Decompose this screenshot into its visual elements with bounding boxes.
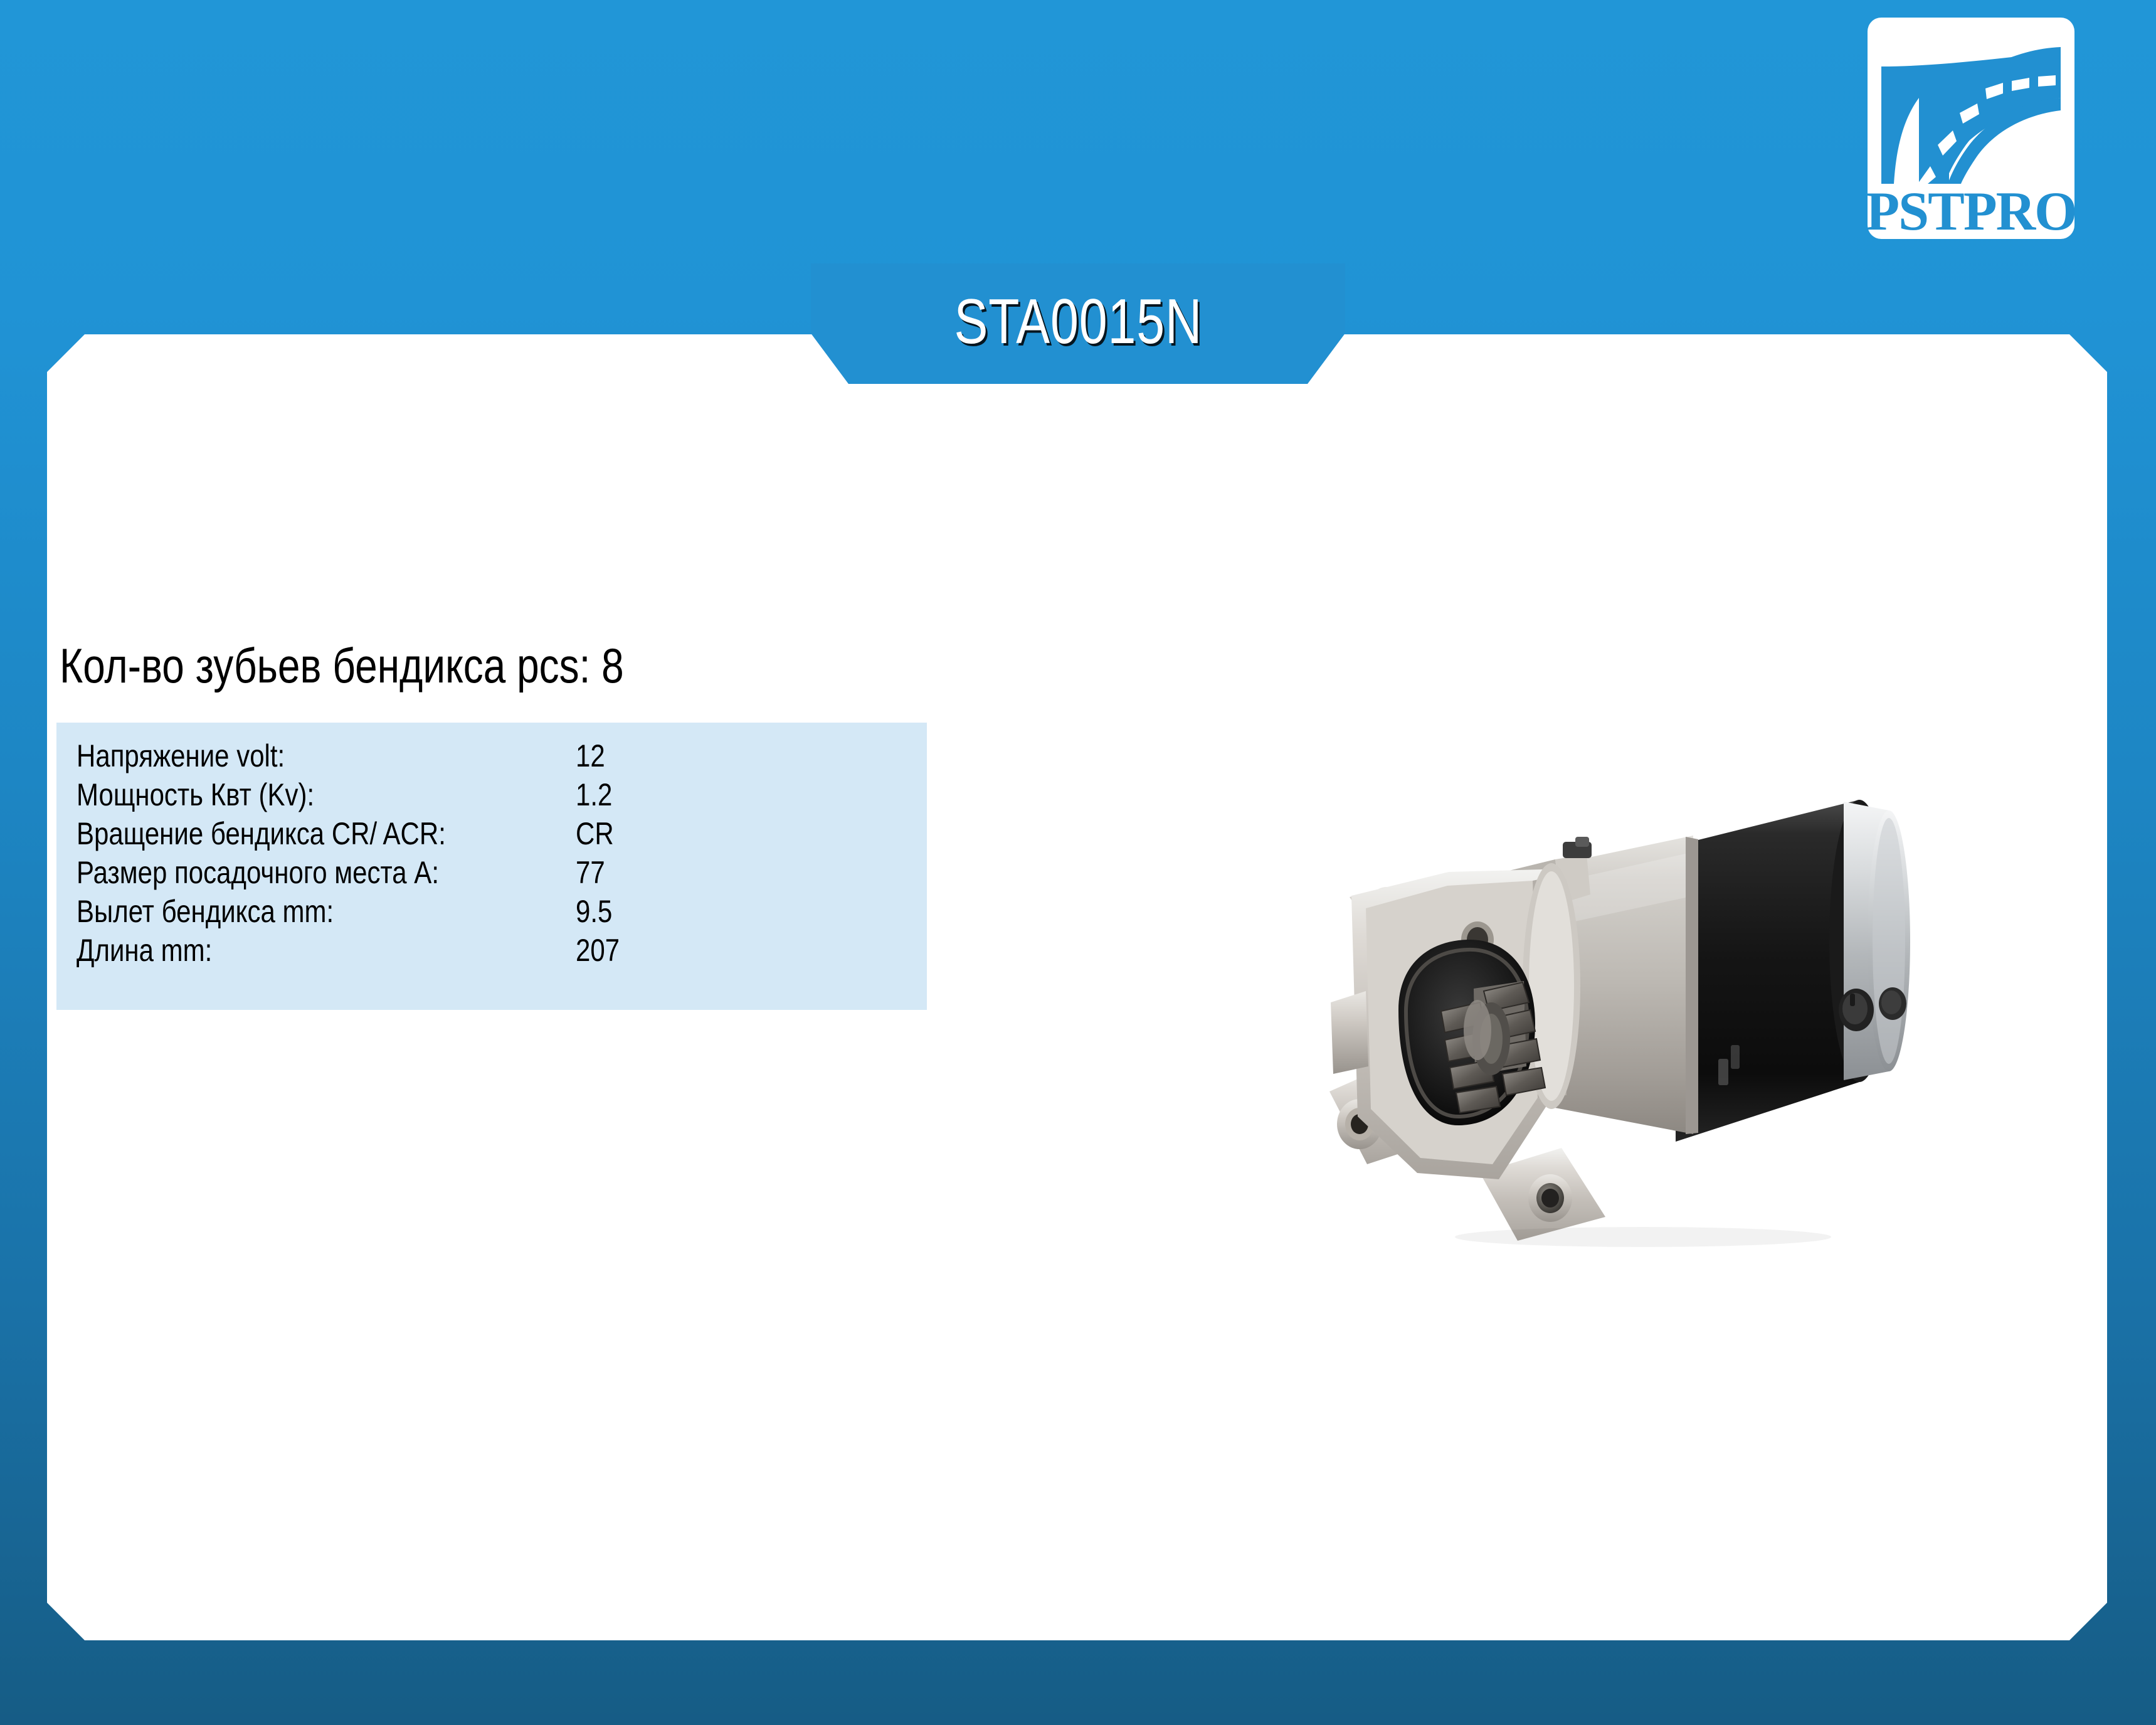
starter-motor-icon [1292, 740, 1994, 1255]
spec-value: 9.5 [576, 892, 612, 931]
spec-label: Напряжение volt: [77, 736, 285, 775]
table-row: Вылет бендикса mm: 9.5 [56, 892, 927, 931]
highway-road-icon: PSTPRO [1868, 18, 2074, 239]
brand-logo[interactable]: PSTPRO [1868, 18, 2074, 239]
bendix-teeth-heading: Кол-во зубьев бендикса pcs: 8 [60, 641, 624, 690]
part-number-title: STA0015N [954, 290, 1202, 358]
logo-wordmark: PSTPRO [1868, 181, 2074, 239]
logo-card: PSTPRO [1868, 18, 2074, 239]
product-photo [1292, 740, 1994, 1255]
spec-value: CR [576, 814, 614, 853]
table-row: Напряжение volt: 12 [56, 736, 927, 775]
spec-label: Вращение бендикса CR/ ACR: [77, 814, 446, 853]
spec-label: Размер посадочного места A: [77, 853, 439, 892]
part-number-banner: STA0015N [811, 263, 1345, 384]
spec-value: 12 [576, 736, 605, 775]
spec-label: Мощность Квт (Kv): [77, 775, 314, 814]
table-row: Размер посадочного места A: 77 [56, 853, 927, 892]
spec-label: Длина mm: [77, 931, 212, 970]
spec-label: Вылет бендикса mm: [77, 892, 334, 931]
spec-value: 77 [576, 853, 605, 892]
table-row: Вращение бендикса CR/ ACR: CR [56, 814, 927, 853]
spec-value: 1.2 [576, 775, 612, 814]
table-row: Мощность Квт (Kv): 1.2 [56, 775, 927, 814]
specifications-table: Напряжение volt: 12 Мощность Квт (Kv): 1… [56, 723, 927, 1010]
spec-value: 207 [576, 931, 620, 970]
table-row: Длина mm: 207 [56, 931, 927, 970]
